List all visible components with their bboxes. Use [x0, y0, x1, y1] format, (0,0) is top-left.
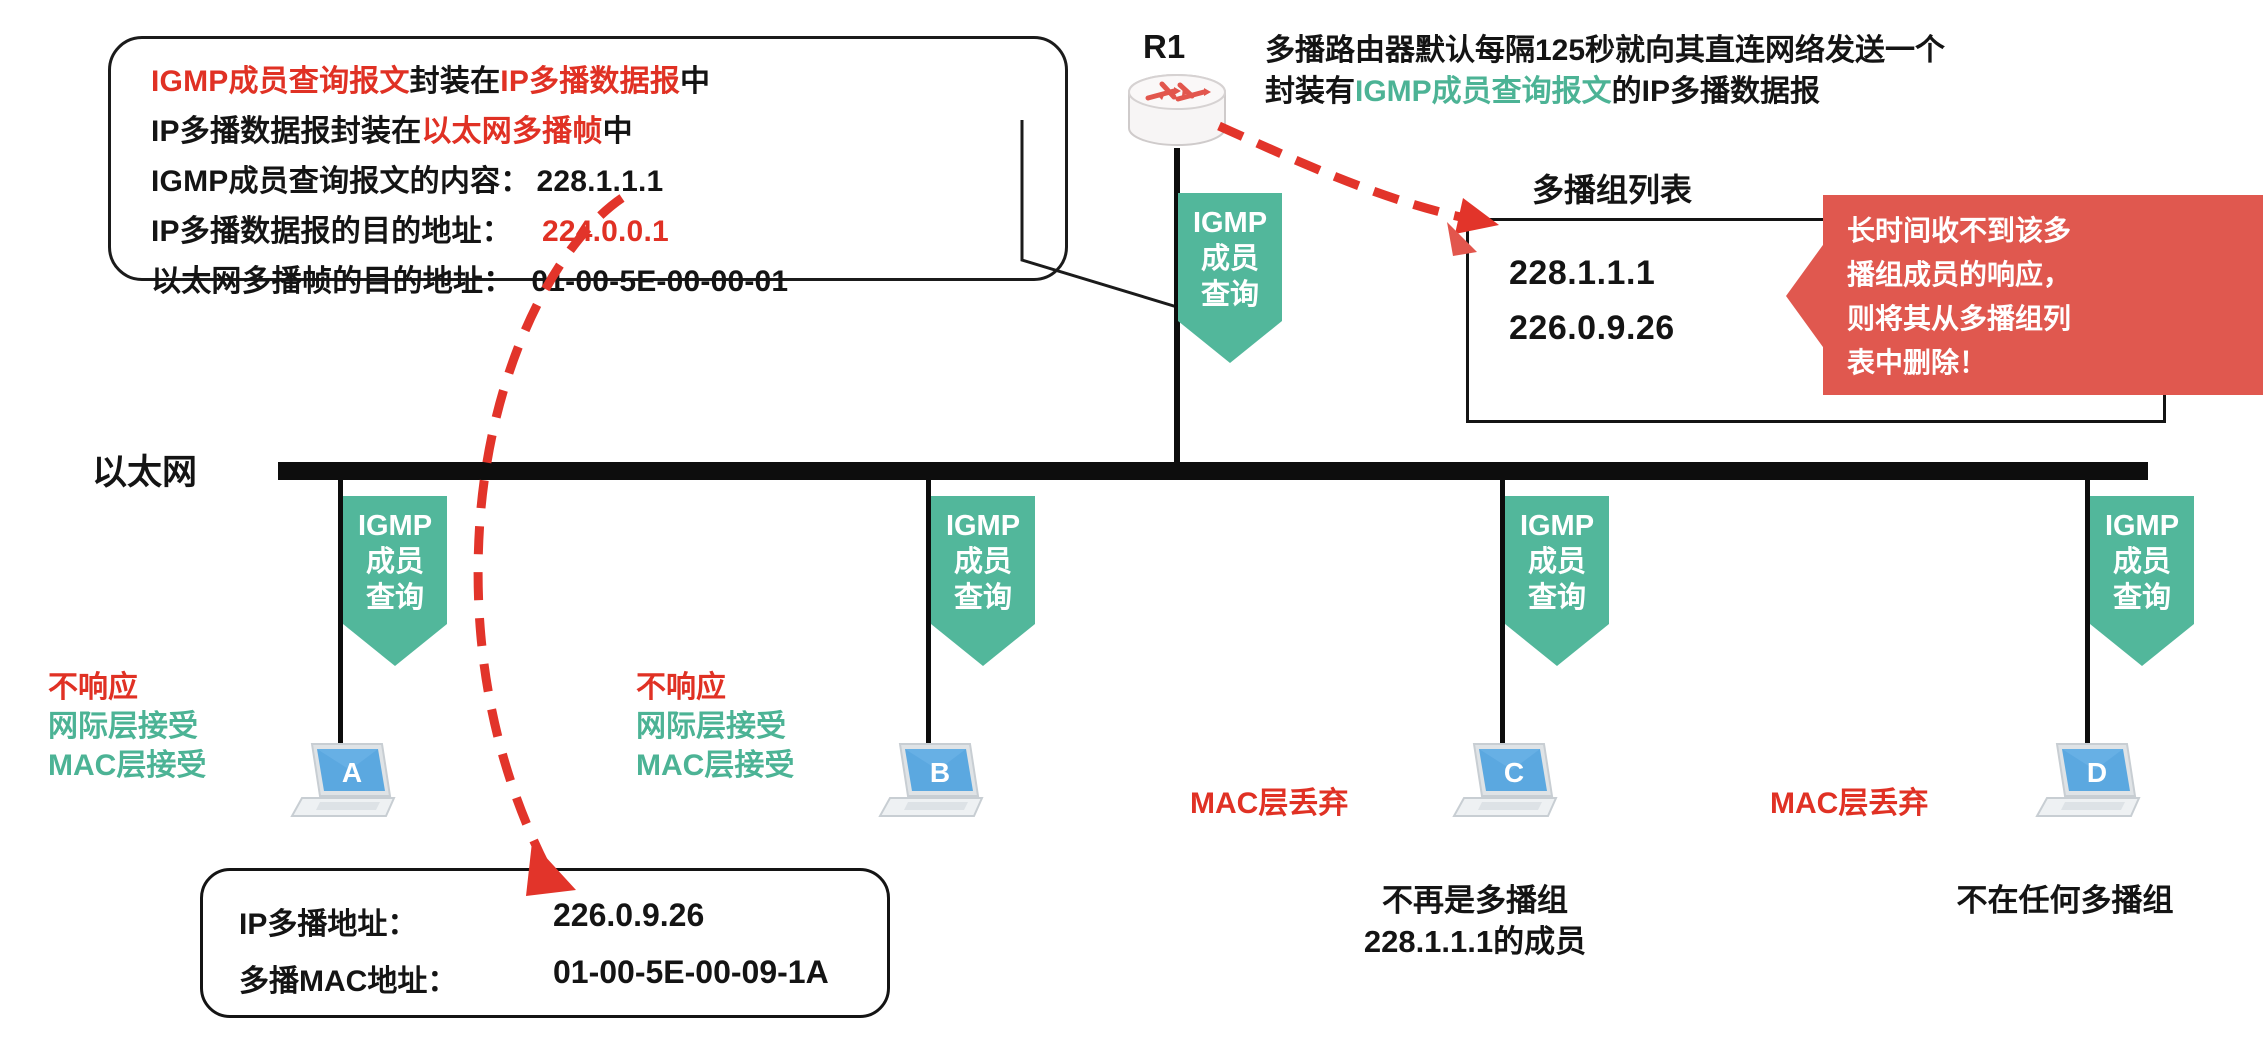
router-note-line-1: 多播路由器默认每隔125秒就向其直连网络发送一个 [1265, 30, 2145, 71]
list-entry-pointer-arrow [1447, 222, 1483, 264]
router-note-line-1-a: 多播路由器默认每隔125秒就向其直连网络发送一个 [1265, 34, 1945, 67]
igmp-block-arrowhead [931, 624, 1035, 666]
router-note-line-2-a: 封装有 [1265, 75, 1355, 108]
router-label: R1 [1143, 28, 1185, 66]
igmp-block-line-3: 查询 [1505, 580, 1609, 616]
igmp-block-body: IGMP 成员 查询 [2090, 496, 2194, 624]
laptop-letter-c: C [1504, 757, 1524, 788]
host-c-label-1: MAC层丢弃 [1190, 784, 1348, 823]
igmp-block-arrowhead [1178, 321, 1282, 363]
router-note: 多播路由器默认每隔125秒就向其直连网络发送一个 封装有IGMP成员查询报文的I… [1265, 30, 2145, 112]
igmp-block-arrowhead [343, 624, 447, 666]
igmp-block-line-3: 查询 [2090, 580, 2194, 616]
host-labels-d: MAC层丢弃 [1770, 784, 1928, 823]
spec-to-address-dashed-arrow [440, 190, 690, 910]
igmp-block-line-2: 成员 [1178, 241, 1282, 277]
router-note-line-2-c: 的IP多播数据报 [1612, 75, 1820, 108]
laptop-c: C [1452, 740, 1548, 818]
host-c-caption-line-1: 不再是多播组 [1310, 880, 1640, 921]
host-c-caption-line-2: 228.1.1.1的成员 [1310, 921, 1640, 962]
ethernet-bus-label: 以太网 [92, 444, 197, 495]
igmp-block-line-1: IGMP [2090, 508, 2194, 544]
laptop-b: B [878, 740, 974, 818]
host-d-label-1: MAC层丢弃 [1770, 784, 1928, 823]
warning-line-4: 表中删除！ [1847, 349, 1987, 377]
igmp-block-body: IGMP 成员 查询 [1505, 496, 1609, 624]
igmp-block-body: IGMP 成员 查询 [343, 496, 447, 624]
multicast-group-entry: 226.0.9.26 [1509, 309, 1675, 348]
igmp-query-block-d: IGMP 成员 查询 [2090, 496, 2194, 666]
igmp-query-block-router: IGMP 成员 查询 [1178, 193, 1282, 363]
router-note-line-2: 封装有IGMP成员查询报文的IP多播数据报 [1265, 71, 2145, 112]
address-row-1-key: IP多播地址： [239, 899, 417, 943]
host-labels-c: MAC层丢弃 [1190, 784, 1348, 823]
igmp-query-block-c: IGMP 成员 查询 [1505, 496, 1609, 666]
laptop-a: A [290, 740, 386, 818]
igmp-query-block-a: IGMP 成员 查询 [343, 496, 447, 666]
router-note-line-2-b: IGMP成员查询报文 [1355, 75, 1612, 108]
spec-line-2-c: 中 [603, 115, 633, 148]
igmp-block-line-3: 查询 [1178, 277, 1282, 313]
multicast-group-list-title: 多播组列表 [1532, 165, 1692, 211]
igmp-block-line-1: IGMP [931, 508, 1035, 544]
host-d-caption: 不在任何多播组 [1880, 880, 2250, 921]
warning-callout: 长时间收不到该多 播组成员的响应， 则将其从多播组列 表中删除！ [1823, 195, 2263, 395]
laptop-d: D [2035, 740, 2131, 818]
spec-line-2: IP多播数据报封装在以太网多播帧中 [151, 117, 633, 147]
laptop-letter-b: B [930, 757, 950, 788]
address-row-2-key: 多播MAC地址： [239, 956, 457, 1000]
igmp-block-arrowhead [2090, 624, 2194, 666]
host-a-label-2: 网际层接受 [48, 707, 206, 746]
igmp-block-line-1: IGMP [343, 508, 447, 544]
igmp-block-line-2: 成员 [1505, 544, 1609, 580]
spec-line-1-c: IP多播数据报 [500, 65, 680, 98]
warning-line-3: 则将其从多播组列 [1847, 305, 2071, 333]
igmp-block-line-1: IGMP [1505, 508, 1609, 544]
warning-line-1: 长时间收不到该多 [1847, 217, 2071, 245]
igmp-block-line-3: 查询 [931, 580, 1035, 616]
host-d-caption-line-1: 不在任何多播组 [1880, 880, 2250, 921]
spec-line-2-a: IP多播数据报封装在 [151, 115, 421, 148]
igmp-block-line-2: 成员 [2090, 544, 2194, 580]
spec-line-1-d: 中 [680, 65, 710, 98]
igmp-block-line-2: 成员 [343, 544, 447, 580]
laptop-letter-d: D [2087, 757, 2107, 788]
host-a-label-3: MAC层接受 [48, 746, 206, 785]
igmp-block-arrowhead [1505, 624, 1609, 666]
host-c-caption: 不再是多播组 228.1.1.1的成员 [1310, 880, 1640, 962]
spec-line-2-b: 以太网多播帧 [421, 115, 602, 148]
spec-line-1-a: IGMP成员查询报文 [151, 65, 410, 98]
host-labels-a: 不响应 网际层接受 MAC层接受 [48, 668, 206, 785]
multicast-group-entry: 228.1.1.1 [1509, 254, 1655, 293]
igmp-block-line-2: 成员 [931, 544, 1035, 580]
spec-line-1-b: 封装在 [410, 65, 501, 98]
warning-callout-tail [1786, 238, 1826, 352]
laptop-letter-a: A [342, 757, 362, 788]
igmp-block-body: IGMP 成员 查询 [931, 496, 1035, 624]
warning-line-2: 播组成员的响应， [1847, 261, 2071, 289]
igmp-block-body: IGMP 成员 查询 [1178, 193, 1282, 321]
spec-line-1: IGMP成员查询报文封装在IP多播数据报中 [151, 67, 710, 97]
igmp-block-line-3: 查询 [343, 580, 447, 616]
igmp-block-line-1: IGMP [1178, 205, 1282, 241]
address-row-2-value: 01-00-5E-00-09-1A [553, 954, 829, 991]
igmp-query-block-b: IGMP 成员 查询 [931, 496, 1035, 666]
host-a-label-1: 不响应 [48, 668, 206, 707]
